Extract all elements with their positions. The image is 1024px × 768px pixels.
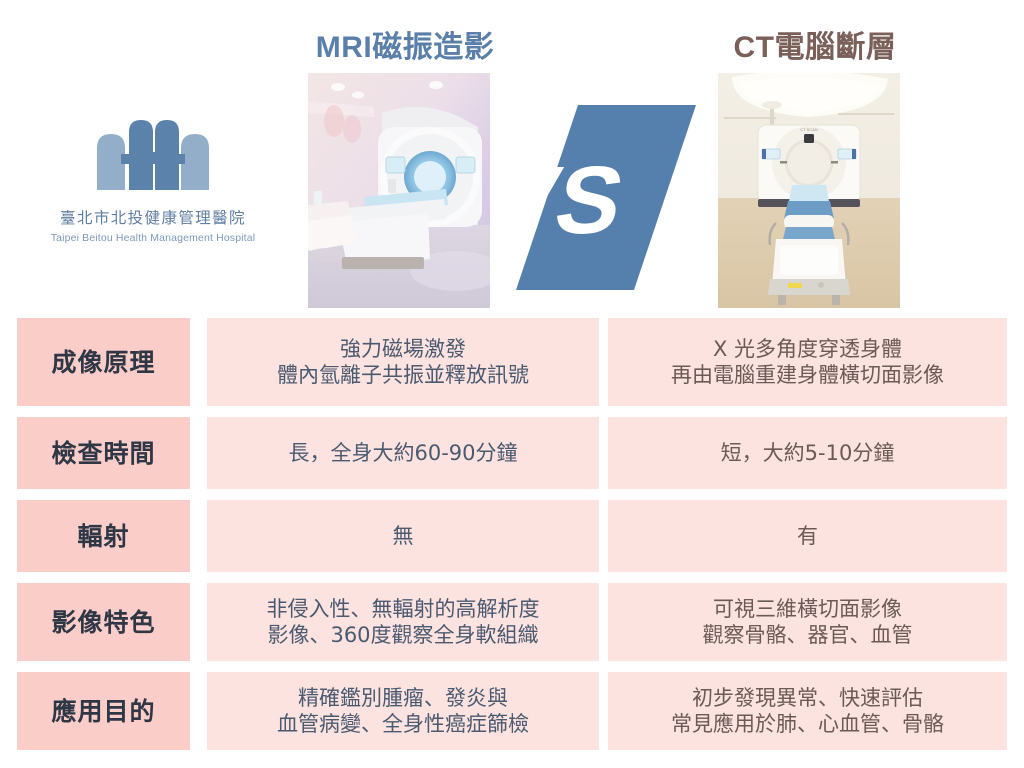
comparison-table: 成像原理強力磁場激發 體內氫離子共振並釋放訊號X 光多角度穿透身體 再由電腦重建… <box>0 318 1024 761</box>
row-label-0: 成像原理 <box>17 318 190 406</box>
hospital-building-h-logo-icon <box>91 118 215 196</box>
mri-scanner-photo-icon <box>308 73 490 308</box>
table-row: 輻射無有 <box>0 500 1024 572</box>
row-ct-0-text: X 光多角度穿透身體 再由電腦重建身體橫切面影像 <box>671 336 944 388</box>
ct-column-title: CT電腦斷層 <box>660 22 970 66</box>
row-label-1: 檢查時間 <box>17 417 190 489</box>
row-label-4: 應用目的 <box>17 672 190 750</box>
row-mri-3-text: 非侵入性、無輻射的高解析度 影像、360度觀察全身軟組織 <box>267 596 540 648</box>
mri-column-title: MRI磁振造影 <box>250 22 560 66</box>
row-ct-1-text: 短，大約5-10分鐘 <box>721 440 895 466</box>
hospital-logo-block: 臺北市北投健康管理醫院 Taipei Beitou Health Managem… <box>28 118 278 244</box>
row-mri-4: 精確鑑別腫瘤、發炎與 血管病變、全身性癌症篩檢 <box>207 672 599 750</box>
row-label-3-text: 影像特色 <box>51 607 155 638</box>
row-mri-0-text: 強力磁場激發 體內氫離子共振並釋放訊號 <box>277 336 529 388</box>
row-ct-3: 可視三維橫切面影像 觀察骨骼、器官、血管 <box>608 583 1007 661</box>
row-ct-1: 短，大約5-10分鐘 <box>608 417 1007 489</box>
infographic-root: MRI磁振造影 CT電腦斷層 臺北市北投健康管理醫院 Taipei Beitou… <box>0 0 1024 768</box>
table-row: 影像特色非侵入性、無輻射的高解析度 影像、360度觀察全身軟組織可視三維橫切面影… <box>0 583 1024 661</box>
row-label-4-text: 應用目的 <box>51 696 155 727</box>
table-row: 成像原理強力磁場激發 體內氫離子共振並釋放訊號X 光多角度穿透身體 再由電腦重建… <box>0 318 1024 406</box>
header-section: MRI磁振造影 CT電腦斷層 臺北市北投健康管理醫院 Taipei Beitou… <box>0 0 1024 315</box>
row-ct-4: 初步發現異常、快速評估 常見應用於肺、心血管、骨骼 <box>608 672 1007 750</box>
row-ct-2-text: 有 <box>797 523 818 549</box>
row-mri-4-text: 精確鑑別腫瘤、發炎與 血管病變、全身性癌症篩檢 <box>277 685 529 737</box>
row-mri-1-text: 長，全身大約60-90分鐘 <box>288 440 517 466</box>
versus-badge: VS <box>516 105 696 290</box>
row-ct-2: 有 <box>608 500 1007 572</box>
row-mri-2: 無 <box>207 500 599 572</box>
row-mri-0: 強力磁場激發 體內氫離子共振並釋放訊號 <box>207 318 599 406</box>
row-label-0-text: 成像原理 <box>51 347 155 378</box>
hospital-name-cn: 臺北市北投健康管理醫院 <box>28 206 278 228</box>
table-row: 檢查時間長，全身大約60-90分鐘短，大約5-10分鐘 <box>0 417 1024 489</box>
row-label-2-text: 輻射 <box>77 521 129 552</box>
row-ct-0: X 光多角度穿透身體 再由電腦重建身體橫切面影像 <box>608 318 1007 406</box>
svg-text:CT SCAN: CT SCAN <box>800 127 818 132</box>
row-mri-2-text: 無 <box>393 523 414 549</box>
table-row: 應用目的精確鑑別腫瘤、發炎與 血管病變、全身性癌症篩檢初步發現異常、快速評估 常… <box>0 672 1024 750</box>
row-label-1-text: 檢查時間 <box>51 438 155 469</box>
hospital-name-en: Taipei Beitou Health Management Hospital <box>28 232 278 244</box>
row-label-2: 輻射 <box>17 500 190 572</box>
ct-scanner-photo-icon: CT SCAN <box>718 73 900 308</box>
row-label-3: 影像特色 <box>17 583 190 661</box>
row-mri-1: 長，全身大約60-90分鐘 <box>207 417 599 489</box>
row-ct-3-text: 可視三維橫切面影像 觀察骨骼、器官、血管 <box>703 596 913 648</box>
row-ct-4-text: 初步發現異常、快速評估 常見應用於肺、心血管、骨骼 <box>671 685 944 737</box>
row-mri-3: 非侵入性、無輻射的高解析度 影像、360度觀察全身軟組織 <box>207 583 599 661</box>
